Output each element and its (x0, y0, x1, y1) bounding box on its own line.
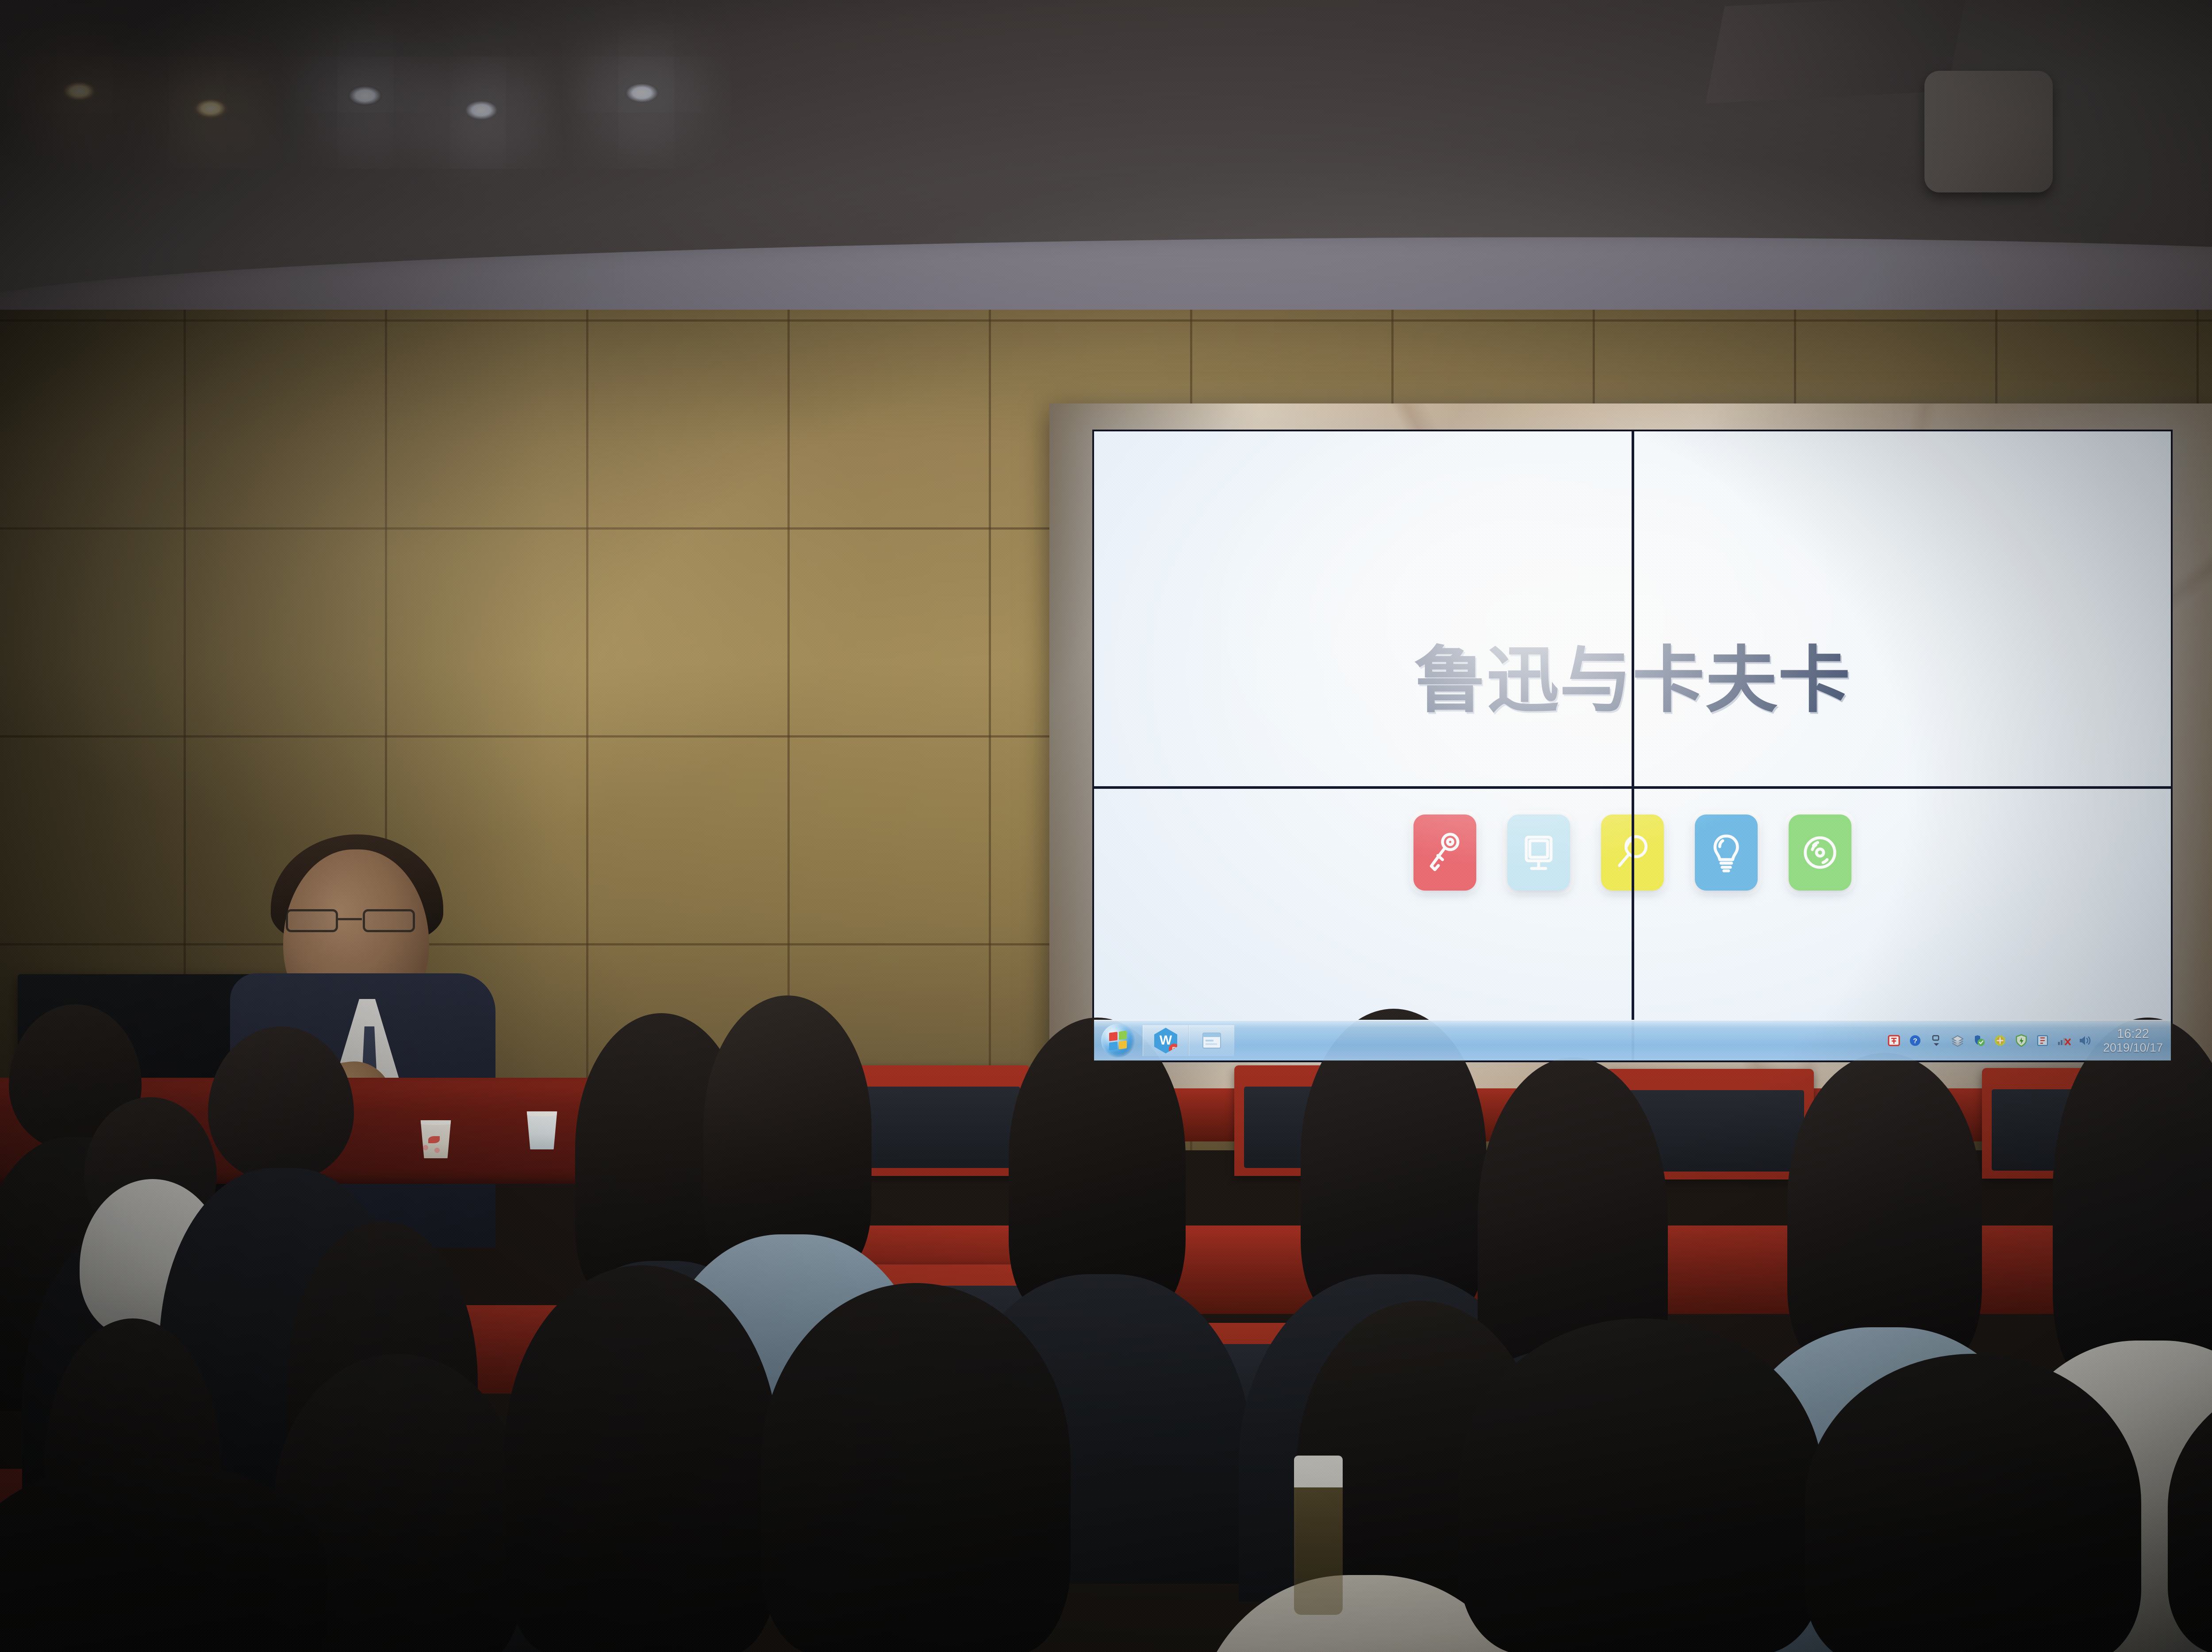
video-wall-seam-horizontal (1094, 786, 2171, 789)
help-icon[interactable]: ? (1908, 1033, 1923, 1048)
clock-date: 2019/10/17 (2103, 1041, 2163, 1054)
presenter-glasses-icon (283, 909, 416, 935)
taskbar-item-window[interactable] (1189, 1025, 1235, 1056)
volume-icon[interactable] (2078, 1033, 2093, 1048)
downlight-icon (625, 83, 659, 103)
clock-time: 16:22 (2103, 1027, 2163, 1041)
shield-check-icon[interactable] (1971, 1033, 1986, 1048)
system-tray[interactable]: ? (1886, 1027, 2171, 1055)
water-bottle (1294, 1456, 1343, 1615)
monitor-util-icon[interactable] (2035, 1033, 2050, 1048)
windows-logo-icon (1109, 1031, 1127, 1051)
package-icon[interactable] (1950, 1033, 1965, 1048)
ime-indicator-icon[interactable] (1886, 1033, 1901, 1048)
wps-badge: P (1169, 1044, 1179, 1054)
downlight-icon (348, 85, 382, 106)
network-disconnected-icon[interactable] (2056, 1033, 2071, 1048)
generic-window-icon (1202, 1032, 1222, 1049)
paper-cup-plain (525, 1111, 559, 1149)
svg-text:?: ? (1913, 1037, 1917, 1045)
lecture-hall-scene: 鲁迅与卡夫卡 (0, 0, 2212, 1652)
downlight-icon (193, 98, 228, 119)
paper-cup-floral (419, 1120, 453, 1158)
show-hidden-icons-icon[interactable] (1929, 1033, 1944, 1048)
monitor-icon (1507, 814, 1570, 891)
security-shield-icon[interactable] (2014, 1033, 2029, 1048)
taskbar-item-wps-presentation[interactable]: W P (1143, 1025, 1189, 1056)
wps-presentation-icon: W P (1154, 1028, 1177, 1053)
video-wall-display[interactable]: 鲁迅与卡夫卡 (1094, 431, 2171, 1060)
quick-launch-bar[interactable]: W P (1143, 1025, 1235, 1056)
video-wall-seam-vertical (1632, 431, 1634, 1060)
disc-icon (1789, 814, 1851, 891)
ceiling-wifi-access-point-icon (1924, 71, 2053, 192)
downlight-icon (62, 81, 96, 101)
lightbulb-icon (1695, 814, 1758, 891)
windows-taskbar[interactable]: W P (1094, 1020, 2171, 1060)
taskbar-clock[interactable]: 16:22 2019/10/17 (2103, 1027, 2163, 1055)
update-icon[interactable] (1993, 1033, 2008, 1048)
start-button[interactable] (1101, 1024, 1135, 1057)
key-icon (1413, 814, 1476, 891)
downlight-icon (464, 100, 499, 120)
